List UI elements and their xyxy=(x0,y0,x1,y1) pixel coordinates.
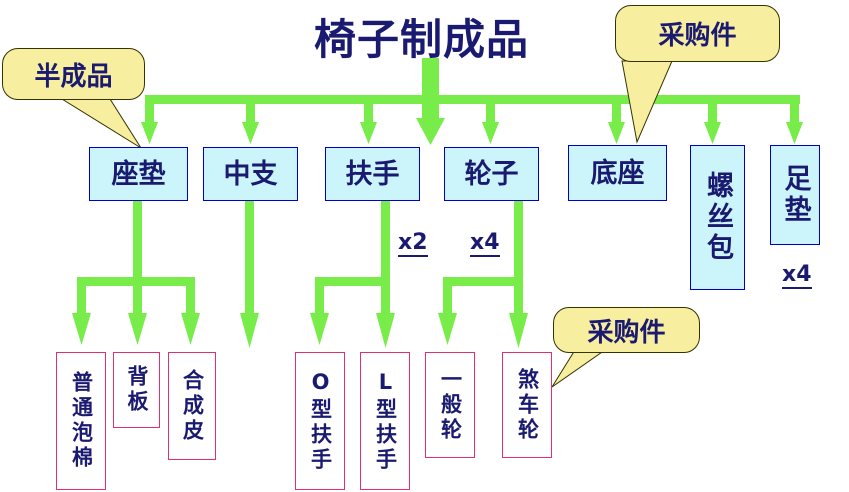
node-label: L型扶手 xyxy=(375,370,396,473)
node-label: 煞车轮 xyxy=(517,368,538,443)
node-label: 足垫 xyxy=(782,164,809,226)
node-label: 螺丝包 xyxy=(704,171,731,264)
multiplier-lunzi: x4 xyxy=(470,232,500,257)
node-zhongzhi[interactable]: 中支 xyxy=(203,147,298,201)
multiplier-fushou: x2 xyxy=(398,232,428,257)
bus-bar-level1 xyxy=(148,95,800,104)
node-fushou[interactable]: 扶手 xyxy=(325,147,420,201)
node-zudian[interactable]: 足垫 xyxy=(770,145,820,245)
node-label: 扶手 xyxy=(346,161,400,188)
node-yibanlun[interactable]: 一般轮 xyxy=(425,352,475,458)
node-hechengpi[interactable]: 合成皮 xyxy=(168,352,216,460)
node-label: 一般轮 xyxy=(440,368,461,443)
callout-tail-banchengpin xyxy=(62,99,141,148)
node-label: 普通泡棉 xyxy=(71,371,92,471)
callout-label: 采购件 xyxy=(658,15,736,52)
node-label: 合成皮 xyxy=(182,369,203,444)
diagram-title: 椅子制成品 xyxy=(314,6,529,67)
node-label: 底座 xyxy=(591,160,645,187)
node-zuodian[interactable]: 座垫 xyxy=(89,147,188,201)
bom-diagram-canvas: .ln{fill:#78ec48;} xyxy=(0,0,849,492)
arrow-zuodian-subtree xyxy=(72,200,200,345)
node-l-xing-fushou[interactable]: L型扶手 xyxy=(360,352,410,490)
callout-banchengpin[interactable]: 半成品 xyxy=(2,48,145,100)
node-beiban[interactable]: 背板 xyxy=(113,352,160,428)
node-label: 轮子 xyxy=(465,161,519,188)
arrow-zhongzhi-to-hecheng xyxy=(240,200,259,348)
node-label: 座垫 xyxy=(112,161,166,188)
node-shachelun[interactable]: 煞车轮 xyxy=(502,352,552,458)
callout-label: 采购件 xyxy=(587,312,665,349)
node-luosibao[interactable]: 螺丝包 xyxy=(690,145,745,290)
callout-label: 半成品 xyxy=(34,56,112,93)
node-label: 背板 xyxy=(126,365,147,415)
node-label: O型扶手 xyxy=(310,370,331,473)
arrow-fushou-subtree xyxy=(310,200,395,348)
node-o-xing-fushou[interactable]: O型扶手 xyxy=(295,352,345,490)
node-lunzi[interactable]: 轮子 xyxy=(444,147,539,201)
node-label: 中支 xyxy=(224,161,278,188)
node-putongpaomian[interactable]: 普通泡棉 xyxy=(56,352,106,490)
multiplier-zudian: x4 xyxy=(782,264,812,289)
arrow-lunzi-subtree xyxy=(438,200,528,348)
node-dizuo[interactable]: 底座 xyxy=(568,145,667,201)
callout-tail-caigoujian-bottom xyxy=(552,350,605,387)
callout-caigoujian-bottom[interactable]: 采购件 xyxy=(553,307,700,353)
callout-caigoujian-top[interactable]: 采购件 xyxy=(615,5,780,62)
